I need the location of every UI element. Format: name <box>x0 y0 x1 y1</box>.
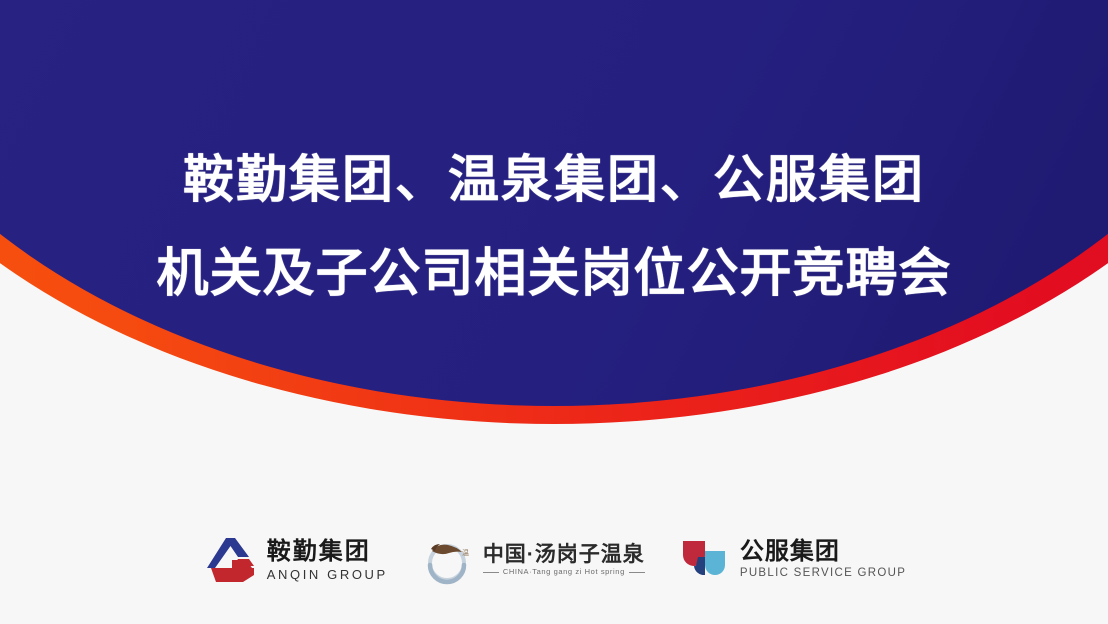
anqin-name-cn: 鞍勤集团 <box>267 540 388 564</box>
hot-spring-ring-icon: 温 <box>422 535 474 585</box>
hotspring-name-cn: 中国·汤岗子温泉 <box>483 544 645 565</box>
hotspring-name-en: CHINA·Tang gang zi Hot spring <box>483 568 645 576</box>
anqin-logo-text: 鞍勤集团 ANQIN GROUP <box>267 540 388 581</box>
logo-anqin-group: 鞍勤集团 ANQIN GROUP <box>202 532 388 588</box>
svg-text:温: 温 <box>462 548 469 557</box>
title-line-1: 鞍勤集团、温泉集团、公服集团 <box>0 134 1108 228</box>
anqin-name-en: ANQIN GROUP <box>267 568 388 581</box>
psg-name-cn: 公服集团 <box>740 540 906 564</box>
psg-logo-text: 公服集团 PUBLIC SERVICE GROUP <box>740 540 906 580</box>
logo-public-service-group: 公服集团 PUBLIC SERVICE GROUP <box>679 532 906 588</box>
presentation-slide: 鞍勤集团、温泉集团、公服集团 机关及子公司相关岗位公开竞聘会 鞍勤集团 ANQI… <box>0 0 1108 624</box>
logo-bar: 鞍勤集团 ANQIN GROUP 温 中国·汤岗子温泉 CHINA·Tang g… <box>0 532 1108 588</box>
anqin-chevron-icon <box>202 535 258 585</box>
logo-tanggangzi-hot-spring: 温 中国·汤岗子温泉 CHINA·Tang gang zi Hot spring <box>422 532 645 588</box>
slide-title: 鞍勤集团、温泉集团、公服集团 机关及子公司相关岗位公开竞聘会 <box>0 134 1108 322</box>
title-line-2: 机关及子公司相关岗位公开竞聘会 <box>0 228 1108 322</box>
psg-name-en: PUBLIC SERVICE GROUP <box>740 568 906 580</box>
hotspring-logo-text: 中国·汤岗子温泉 CHINA·Tang gang zi Hot spring <box>483 544 645 576</box>
public-service-shield-icon <box>679 535 731 585</box>
